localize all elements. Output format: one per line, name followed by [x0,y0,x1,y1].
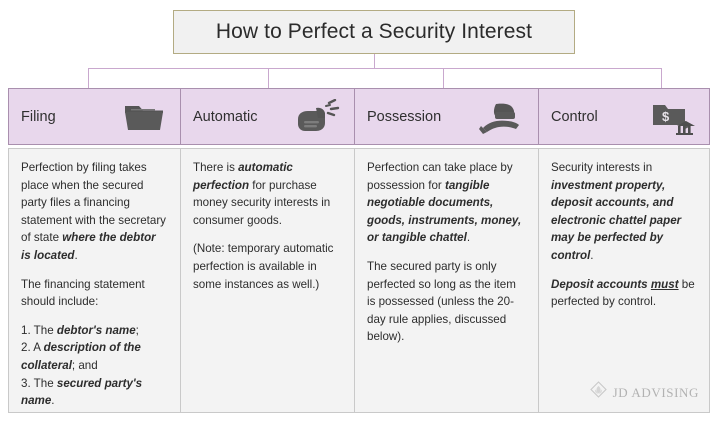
paragraph: Deposit accounts must be perfected by co… [551,276,697,311]
category-header-control: Control $ [538,88,710,145]
category-body-row: Perfection by filing takes place when th… [8,148,712,413]
category-header-possession: Possession [354,88,539,145]
connector-bus [88,68,662,69]
paragraph: Perfection can take place by possession … [367,159,526,247]
paragraph: There is automatic perfection for purcha… [193,159,342,229]
category-header-row: Filing Automatic [8,88,712,145]
paragraph: The secured party is only perfected so l… [367,258,526,346]
paragraph: 1. The debtor's name; [21,322,168,340]
connector-drop-filing [88,68,89,88]
paragraph: 3. The secured party's name. [21,375,168,410]
category-body-control: Security interests in investment propert… [538,148,710,413]
category-label-control: Control [551,109,598,125]
connector-drop-possession [443,68,444,88]
connector-drop-control [661,68,662,88]
paragraph: 2. A description of the collateral; and [21,339,168,374]
folder-icon [122,100,166,134]
connector-stem [374,54,375,69]
paragraph: Security interests in investment propert… [551,159,697,265]
paragraph: (Note: temporary automatic perfection is… [193,240,342,293]
snapping-fingers-icon [296,99,340,135]
folder-dollar-bank-icon: $ [649,99,695,135]
lotus-diamond-icon [590,381,607,404]
category-body-automatic: There is automatic perfection for purcha… [180,148,355,413]
category-label-automatic: Automatic [193,109,257,125]
connector-drop-automatic [268,68,269,88]
category-header-automatic: Automatic [180,88,355,145]
category-body-possession: Perfection can take place by possession … [354,148,539,413]
category-label-filing: Filing [21,109,56,125]
hand-holding-icon [478,99,524,135]
category-label-possession: Possession [367,109,441,125]
diagram-title-box: How to Perfect a Security Interest [173,10,575,54]
category-body-filing: Perfection by filing takes place when th… [8,148,181,413]
paragraph: Perfection by filing takes place when th… [21,159,168,265]
diagram-canvas: How to Perfect a Security Interest Filin… [0,0,720,421]
category-header-filing: Filing [8,88,181,145]
paragraph: The financing statement should include: [21,276,168,311]
svg-text:$: $ [662,109,670,124]
brand-logo: JD ADVISING [590,381,699,404]
page-title: How to Perfect a Security Interest [216,20,532,44]
brand-logo-text: JD ADVISING [613,383,699,403]
